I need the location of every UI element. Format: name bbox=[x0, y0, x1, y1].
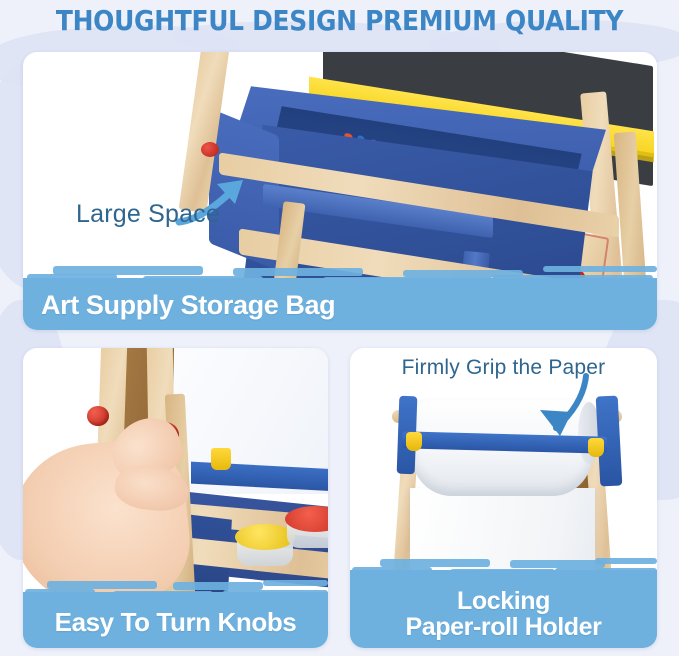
arrow-down-icon bbox=[528, 370, 598, 446]
caption-paper-roll: Locking Paper-roll Holder bbox=[350, 589, 657, 648]
panel-art-supply-storage-bag: Arkmiido Large Space Art bbox=[23, 52, 657, 330]
caption-paper-roll-line2: Paper-roll Holder bbox=[350, 615, 657, 641]
caption-knobs: Easy To Turn Knobs bbox=[23, 609, 328, 648]
caption-paper-roll-line1: Locking bbox=[350, 589, 657, 615]
callout-large-space: Large Space bbox=[76, 200, 220, 229]
panel-locking-paper-roll-holder: Firmly Grip the Paper Locking Paper-roll… bbox=[350, 348, 657, 648]
callout-firmly-grip: Firmly Grip the Paper bbox=[350, 356, 657, 380]
yellow-clip-left bbox=[406, 432, 422, 451]
page-title: THOUGHTFUL DESIGN PREMIUM QUALITY bbox=[3, 4, 675, 37]
red-knob bbox=[201, 142, 219, 157]
caption-band-storage-bag: Art Supply Storage Bag bbox=[23, 278, 657, 330]
red-knob bbox=[87, 406, 109, 426]
yellow-clip bbox=[211, 448, 231, 470]
caption-band-paper-roll: Locking Paper-roll Holder bbox=[350, 570, 657, 648]
panel-easy-to-turn-knobs: Easy To Turn Knobs bbox=[23, 348, 328, 648]
caption-band-knobs: Easy To Turn Knobs bbox=[23, 592, 328, 648]
caption-storage-bag: Art Supply Storage Bag bbox=[23, 292, 657, 330]
